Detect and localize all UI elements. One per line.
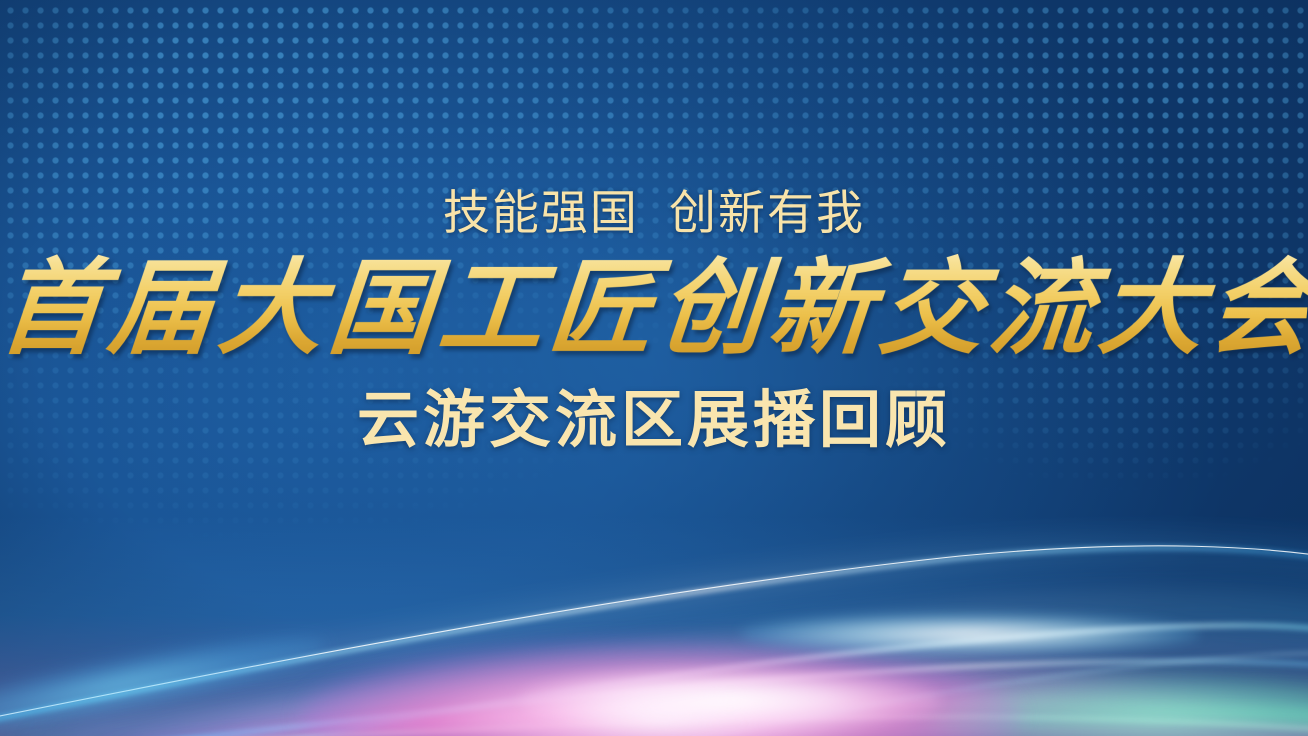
ribbon-blue-sweep [120,661,1308,736]
ribbon-green-band [520,715,1308,736]
light-glow-cyan-high [740,614,1200,654]
ribbon-blue-sweep-glow [20,644,1308,736]
ribbon-green-band-glow [440,704,1308,736]
ribbon-pink-band [80,704,1308,736]
event-poster: 技能强国 创新有我 首届大国工匠创新交流大会 云游交流区展播回顾 [0,0,1308,736]
ribbon-pink-band-glow [20,696,1308,736]
light-glow-pink [300,642,1020,736]
ribbon-purple-wash [140,653,1308,736]
ribbon-pink-wash [210,674,1308,736]
light-glow-left-beam [0,620,331,736]
ribbon-cyan-arc2-glow [0,606,1308,736]
ribbon-cyan-arc-glow [0,548,1308,736]
ribbon-cyan-arc-core [0,546,1308,736]
light-glow-white-core [520,668,940,732]
ribbon-pink-band-core [160,717,1308,736]
ribbon-cyan-arc2 [260,625,1308,736]
bottom-light-ribbons [0,446,1308,736]
ribbon-cyan-filament [660,653,1308,736]
poster-subtitle: 云游交流区展播回顾 [0,361,1308,455]
poster-text-stack: 技能强国 创新有我 首届大国工匠创新交流大会 云游交流区展播回顾 [0,0,1308,455]
poster-main-title: 首届大国工匠创新交流大会 [0,241,1308,361]
bottom-atmospheric-haze [0,516,1308,736]
poster-kicker-slogan: 技能强国 创新有我 [0,0,1308,241]
light-glow-green [930,674,1308,736]
ribbon-cyan-arc [0,548,1308,736]
